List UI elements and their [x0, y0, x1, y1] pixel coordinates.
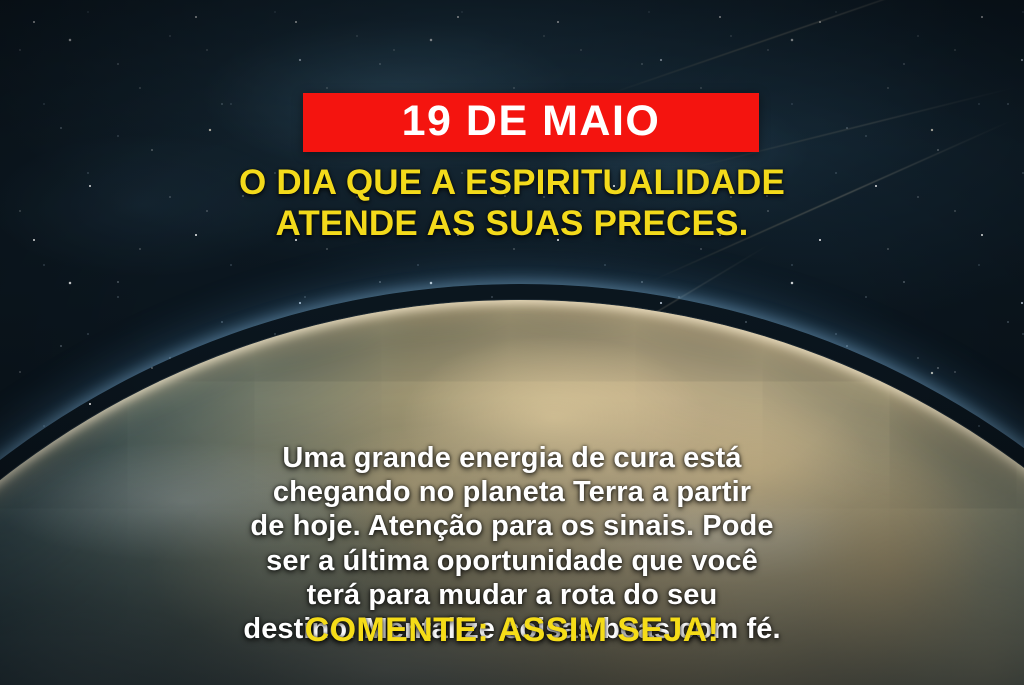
poster-content: 19 DE MAIO O DIA QUE A ESPIRITUALIDADE A…	[0, 0, 1024, 685]
body-line-2: chegando no planeta Terra a partir	[0, 475, 1024, 509]
body-line-3: de hoje. Atenção para os sinais. Pode	[0, 509, 1024, 543]
headline-line-1: O DIA QUE A ESPIRITUALIDADE	[0, 163, 1024, 204]
body-line-5: terá para mudar a rota do seu	[0, 578, 1024, 612]
body-line-4: ser a última oportunidade que você	[0, 544, 1024, 578]
date-banner: 19 DE MAIO	[303, 93, 759, 152]
headline: O DIA QUE A ESPIRITUALIDADE ATENDE AS SU…	[0, 163, 1024, 244]
headline-line-2: ATENDE AS SUAS PRECES.	[0, 204, 1024, 245]
poster-image: 19 DE MAIO O DIA QUE A ESPIRITUALIDADE A…	[0, 0, 1024, 685]
body-line-1: Uma grande energia de cura está	[0, 441, 1024, 475]
date-banner-text: 19 DE MAIO	[402, 100, 661, 143]
call-to-action-text: COMENTE: ASSIM SEJA!	[0, 613, 1024, 647]
